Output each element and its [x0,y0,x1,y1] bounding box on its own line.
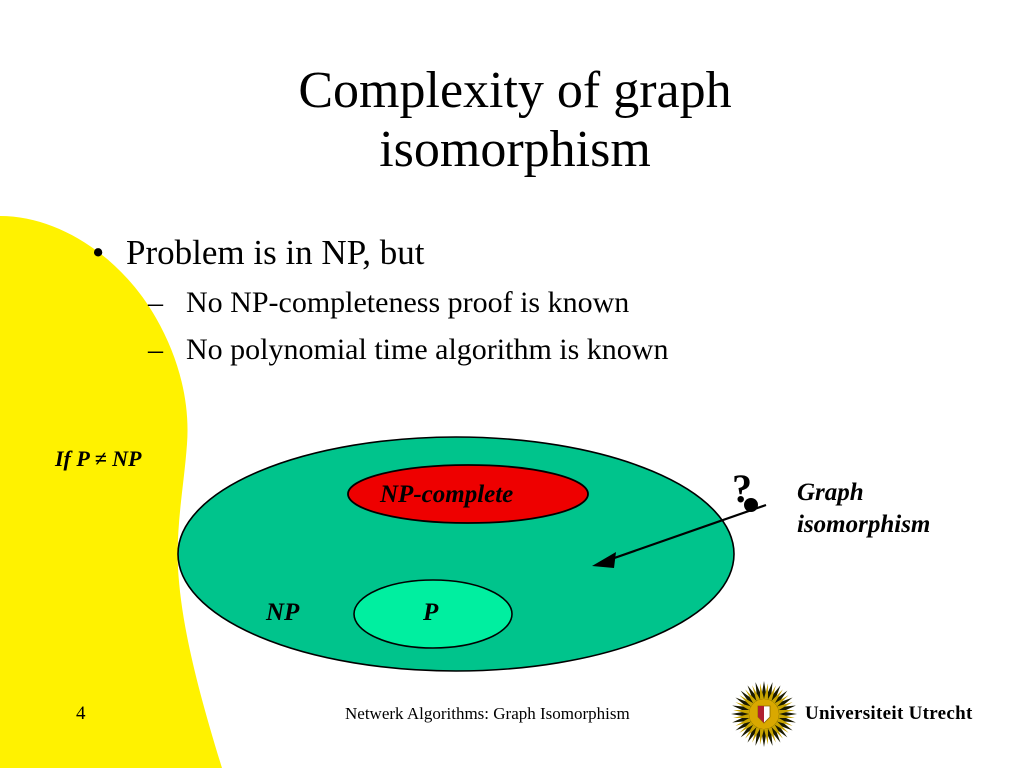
if-p-not-equal-np-label: If P ≠ NP [55,446,141,472]
logo-wordmark: Universiteit Utrecht [805,703,973,725]
p-label: P [423,599,438,627]
footer-text: Netwerk Algorithms: Graph Isomorphism [345,704,630,724]
graph-isomorphism-label: Graph isomorphism [797,477,930,541]
slide: Complexity of graph isomorphism • Proble… [0,0,1024,768]
page-number: 4 [76,703,86,725]
np-label: NP [266,599,299,627]
question-mark-icon: ? [732,469,752,509]
complexity-class-venn-diagram [0,0,1024,768]
np-complete-label: NP-complete [380,481,513,509]
